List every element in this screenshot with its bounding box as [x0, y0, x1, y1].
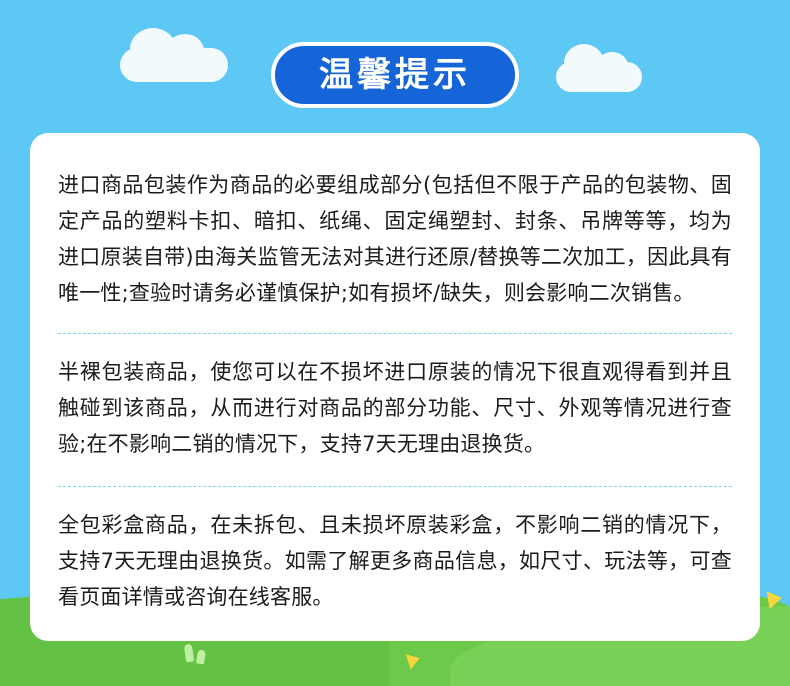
page-title: 温馨提示 [319, 58, 471, 92]
cloud-icon-right [556, 62, 642, 92]
notice-paragraph-3: 全包彩盒商品，在未拆包、且未损坏原装彩盒，不影响二销的情况下，支持7天无理由退换… [58, 507, 732, 615]
divider-2 [58, 486, 732, 487]
notice-paragraph-2: 半裸包装商品，使您可以在不损坏进口原装的情况下很直观得看到并且触碰到该商品，从而… [58, 354, 732, 462]
bird-icon-right [767, 589, 784, 609]
page-title-banner: 温馨提示 [271, 42, 519, 108]
promo-notice-page: 温馨提示 进口商品包装作为商品的必要组成部分(包括但不限于产品的包装物、固定产品… [0, 0, 790, 686]
notice-card: 进口商品包装作为商品的必要组成部分(包括但不限于产品的包装物、固定产品的塑料卡扣… [30, 133, 760, 641]
notice-paragraph-1: 进口商品包装作为商品的必要组成部分(包括但不限于产品的包装物、固定产品的塑料卡扣… [58, 167, 732, 311]
divider-1 [58, 333, 732, 334]
cloud-icon-left [120, 48, 228, 82]
